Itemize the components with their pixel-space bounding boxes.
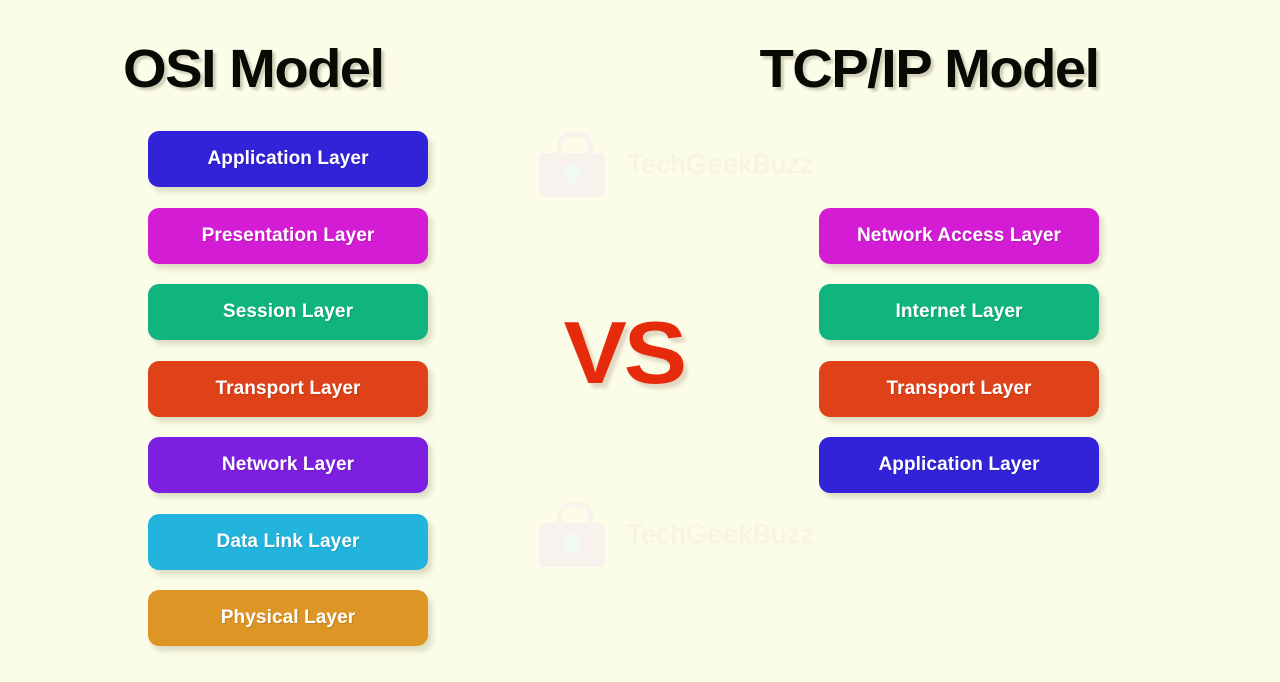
layer-stack-tcpip: Network Access LayerInternet LayerTransp… [819,0,1099,682]
layer-box[interactable]: Network Layer [148,437,428,493]
watermark-text: TechGeekBuzz [627,519,815,550]
layer-label: Transport Layer [215,378,360,400]
layer-box[interactable]: Transport Layer [148,361,428,417]
layer-box[interactable]: Internet Layer [819,284,1099,340]
layer-box[interactable]: Application Layer [819,437,1099,493]
layer-box[interactable]: Presentation Layer [148,208,428,264]
layer-label: Application Layer [207,148,368,170]
bag-body-icon [539,523,605,567]
layer-label: Application Layer [878,454,1039,476]
bag-body-icon [539,153,605,197]
bag-emblem-icon [559,531,583,555]
bag-handle-icon [557,132,593,163]
layer-box[interactable]: Session Layer [148,284,428,340]
watermark: TechGeekBuzz [537,131,815,197]
layer-stack-osi: Application LayerPresentation LayerSessi… [148,0,428,682]
bag-logo-icon [537,501,609,567]
watermark: TechGeekBuzz [537,501,815,567]
layer-label: Network Access Layer [857,225,1061,247]
watermark-text: TechGeekBuzz [627,149,815,180]
layer-box[interactable]: Data Link Layer [148,514,428,570]
layer-label: Presentation Layer [202,225,375,247]
vs-label: VS [564,302,684,404]
layer-label: Network Layer [222,454,354,476]
layer-label: Transport Layer [886,378,1031,400]
layer-box[interactable]: Transport Layer [819,361,1099,417]
layer-label: Session Layer [223,301,353,323]
layer-label: Internet Layer [895,301,1022,323]
layer-label: Data Link Layer [217,531,360,553]
bag-emblem-icon [559,161,583,185]
diagram-canvas: TechGeekBuzzTechGeekBuzzOSI ModelApplica… [0,0,1280,682]
layer-label: Physical Layer [221,607,355,629]
bag-handle-icon [557,502,593,533]
layer-box[interactable]: Physical Layer [148,590,428,646]
bag-logo-icon [537,131,609,197]
layer-box[interactable]: Application Layer [148,131,428,187]
layer-box[interactable]: Network Access Layer [819,208,1099,264]
